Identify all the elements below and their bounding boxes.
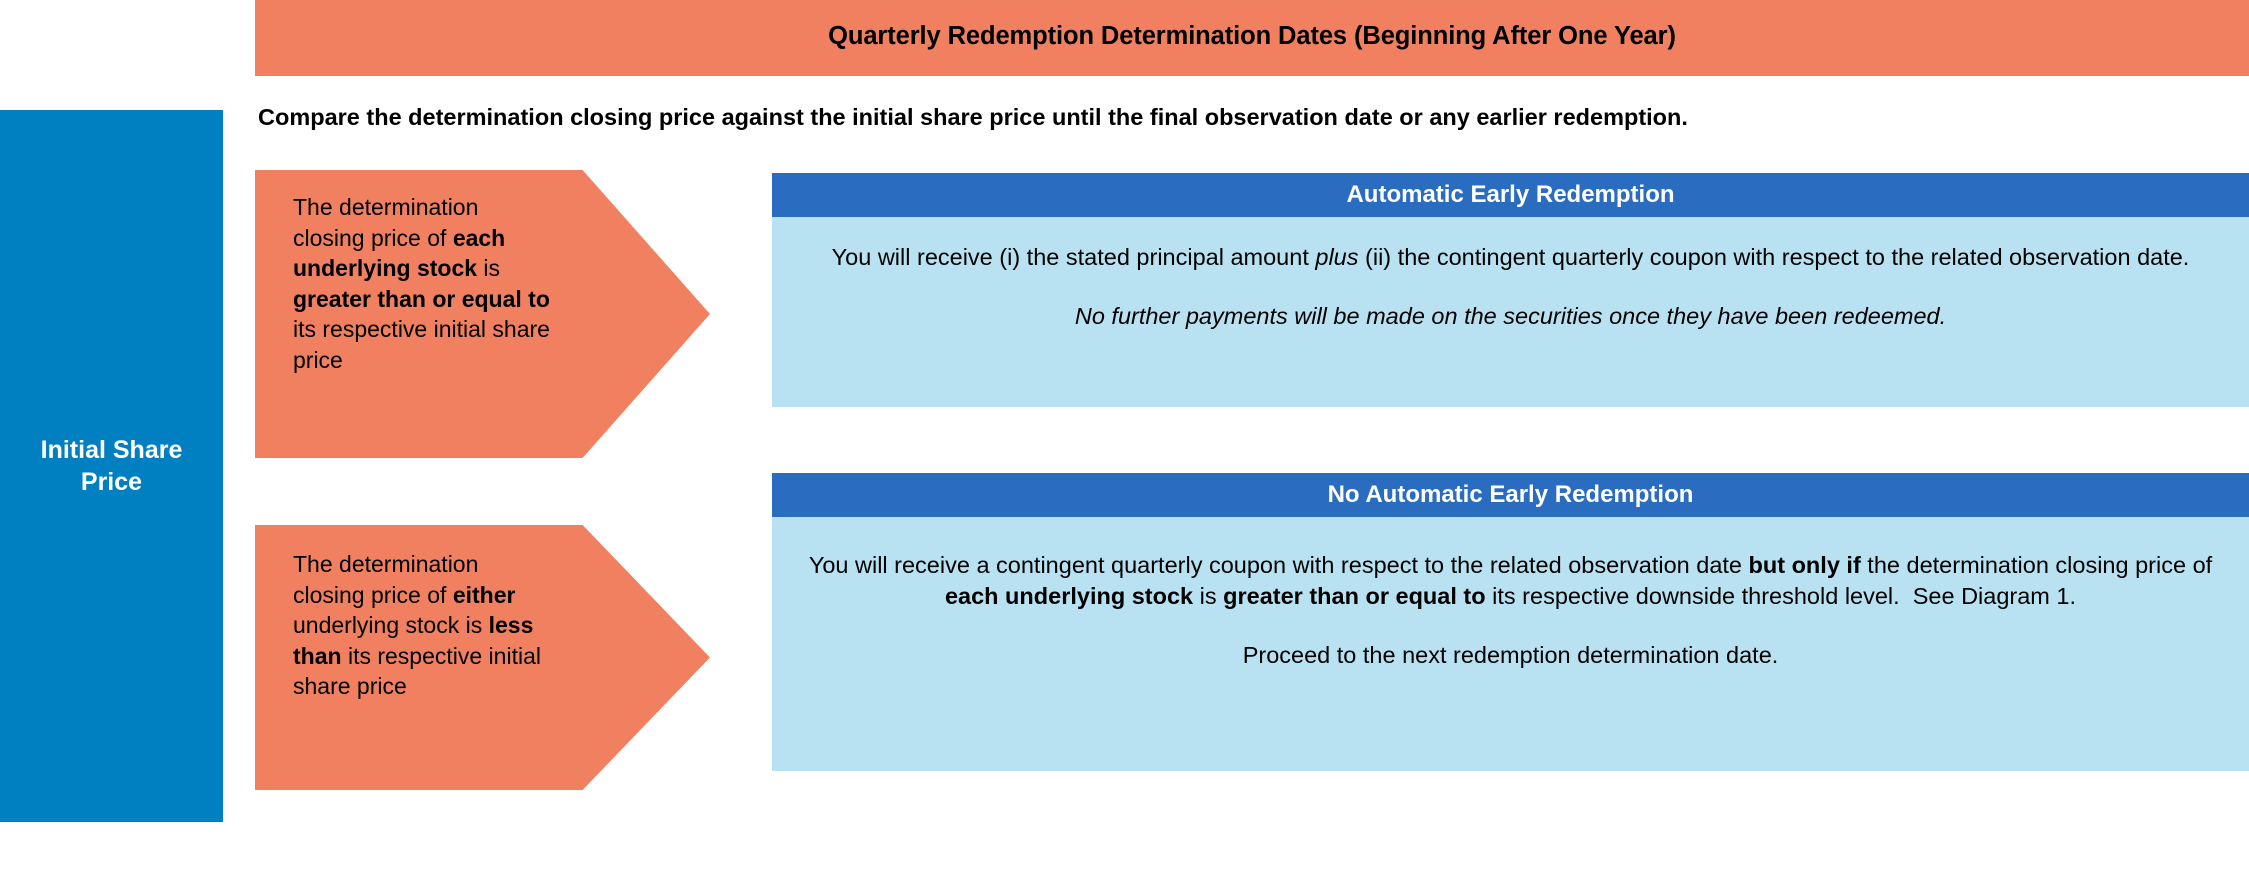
condition-chevron-greater-than-or-equal-text: The determination closing price of each … <box>255 170 553 375</box>
initial-share-price-bar: Initial Share Price <box>0 110 223 822</box>
outcome-paragraph-note: No further payments will be made on the … <box>790 301 2231 332</box>
title-banner: Quarterly Redemption Determination Dates… <box>255 0 2249 76</box>
outcome-panel-header-no-automatic: No Automatic Early Redemption <box>772 473 2249 517</box>
condition-chevron-greater-than-or-equal: The determination closing price of each … <box>255 170 710 458</box>
outcome-panel-body-no-automatic: You will receive a contingent quarterly … <box>772 517 2249 771</box>
outcome-panel-no-automatic-early-redemption: No Automatic Early Redemption You will r… <box>772 473 2249 771</box>
outcome-paragraph-proceed: Proceed to the next redemption determina… <box>790 640 2231 671</box>
title-banner-text: Quarterly Redemption Determination Dates… <box>828 22 1676 51</box>
initial-share-price-label: Initial Share Price <box>22 434 202 498</box>
outcome-paragraph: You will receive a contingent quarterly … <box>790 550 2231 612</box>
outcome-paragraph: You will receive (i) the stated principa… <box>790 242 2231 273</box>
outcome-panel-header-automatic-label: Automatic Early Redemption <box>1346 181 1674 209</box>
instruction-text: Compare the determination closing price … <box>258 104 2238 131</box>
outcome-panel-automatic-early-redemption: Automatic Early Redemption You will rece… <box>772 173 2249 407</box>
condition-chevron-less-than-text: The determination closing price of eithe… <box>255 525 553 702</box>
outcome-panel-header-no-automatic-label: No Automatic Early Redemption <box>1328 481 1694 509</box>
outcome-panel-header-automatic: Automatic Early Redemption <box>772 173 2249 217</box>
outcome-panel-body-automatic: You will receive (i) the stated principa… <box>772 217 2249 407</box>
condition-chevron-less-than: The determination closing price of eithe… <box>255 525 710 790</box>
